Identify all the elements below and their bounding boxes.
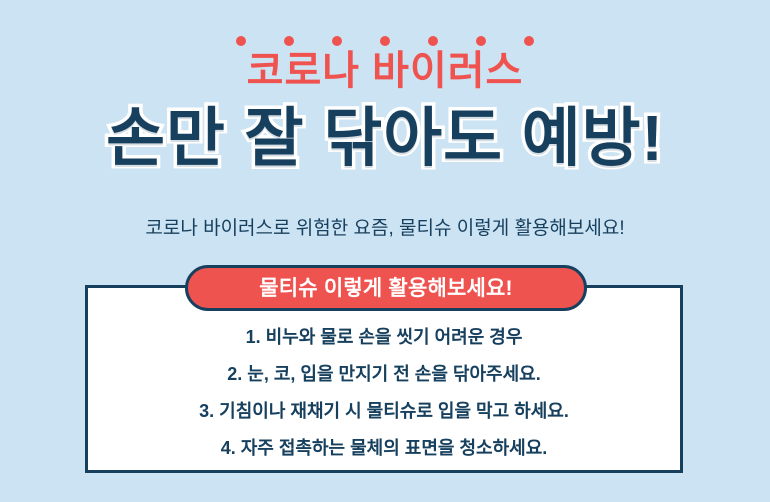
title-accent-dot <box>428 36 438 46</box>
infographic-poster: 코로나 바이러스 손만 잘 닦아도 예방! 코로나 바이러스로 위험한 요즘, … <box>0 0 770 502</box>
subtitle-text: 코로나 바이러스로 위험한 요즘, 물티슈 이렇게 활용해보세요! <box>0 215 770 244</box>
title-accent-dot <box>476 36 486 46</box>
list-item: 1. 비누와 물로 손을 씻기 어려운 경우 <box>246 318 523 355</box>
list-item: 2. 눈, 코, 입을 만지기 전 손을 닦아주세요. <box>227 355 540 392</box>
title-accent-dot <box>284 36 294 46</box>
title-accent-dot <box>524 36 534 46</box>
tips-list: 1. 비누와 물로 손을 씻기 어려운 경우 2. 눈, 코, 입을 만지기 전… <box>85 318 683 466</box>
title-accent-dot <box>236 36 246 46</box>
tips-banner: 물티슈 이렇게 활용해보세요! <box>185 265 587 311</box>
title-accent-dot <box>332 36 342 46</box>
kicker-title: 코로나 바이러스 <box>0 48 770 94</box>
title-accent-dot-row <box>0 36 770 46</box>
title-accent-dot <box>380 36 390 46</box>
list-item: 4. 자주 접촉하는 물체의 표면을 청소하세요. <box>221 429 548 466</box>
tips-banner-label: 물티슈 이렇게 활용해보세요! <box>259 278 513 299</box>
list-item: 3. 기침이나 재채기 시 물티슈로 입을 막고 하세요. <box>199 392 569 429</box>
page-title: 손만 잘 닦아도 예방! <box>0 100 770 177</box>
